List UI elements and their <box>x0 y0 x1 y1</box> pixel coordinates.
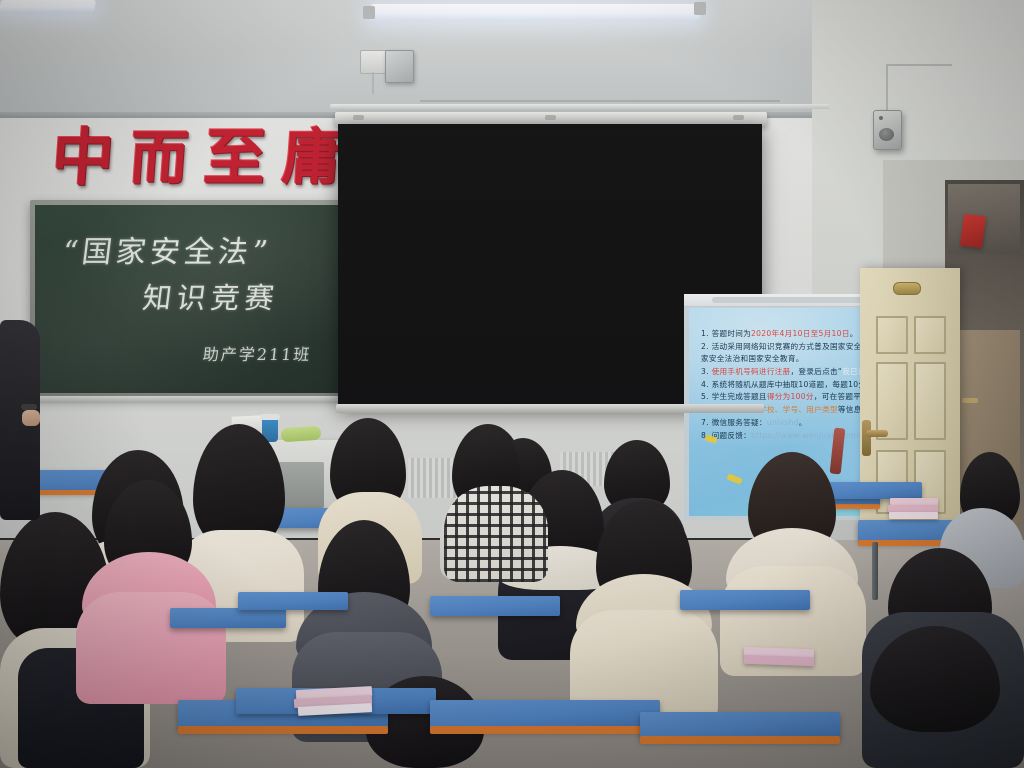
green-cloth <box>281 426 322 443</box>
blackboard-line-2: 知识竞赛 <box>140 275 281 317</box>
door-lock-icon[interactable] <box>862 420 871 456</box>
motto-glyph-3: 至 <box>202 127 268 189</box>
slide-bullet-text: 得分为100分 <box>767 392 814 401</box>
desk <box>430 596 560 616</box>
motto-glyph-4: 庸 <box>280 128 344 188</box>
wristwatch-icon <box>21 404 37 410</box>
slide-bullet-number: 4. <box>701 380 712 389</box>
desk <box>238 592 348 610</box>
chalk-tray <box>28 396 352 403</box>
book-stack <box>890 498 938 505</box>
slide-bullet-number: 7. <box>701 418 712 427</box>
projection-screen: 答题须知 1. 答题时间为2020年4月10日至5月10日。2. 活动采用网络知… <box>338 124 762 407</box>
ceiling-light-icon <box>0 0 96 13</box>
door-handle-icon[interactable] <box>866 430 888 437</box>
desk <box>680 590 810 610</box>
door-nameplate <box>893 282 921 295</box>
slide-bullet-text: 答题时间为 <box>712 329 751 338</box>
screen-weight-bar <box>336 404 764 413</box>
screen-bracket-icon <box>733 115 744 120</box>
desk-leg <box>872 542 878 600</box>
slide-bullet-text: 2020年4月10日至5月10日 <box>751 329 850 338</box>
slide-bullet-number: 2. <box>701 342 712 351</box>
sensor-cable <box>372 72 374 94</box>
slide-bullet-text: 。 <box>799 418 807 427</box>
red-notice-paper <box>960 214 986 249</box>
desk-edge <box>640 736 840 744</box>
slide-bullet-text: univshd <box>767 418 799 427</box>
door-panel <box>914 362 946 440</box>
classroom-photo: 中 而 至 庸 “国家安全法” 知识竞赛 助产学211班 答题须知 1. 答题时… <box>0 0 1024 768</box>
door-panel <box>914 316 946 354</box>
slide-bullet-number: 3. <box>701 367 712 376</box>
speaker-cable <box>886 66 888 112</box>
speaker-led-icon <box>879 116 883 120</box>
motto-glyph-2: 而 <box>128 129 190 187</box>
blackboard-line-1: “国家安全法” <box>60 227 274 271</box>
slide-bullet-number: 1. <box>701 329 712 338</box>
slide-bullet-text: 使用手机号码进行注册 <box>712 367 791 376</box>
door-panel <box>876 316 908 354</box>
slide-bullet-text: 学生完成答题且 <box>712 392 767 401</box>
book-stack <box>888 505 938 512</box>
blackboard: “国家安全法” 知识竞赛 助产学211班 <box>35 205 343 393</box>
desk-edge <box>178 726 388 734</box>
motto-glyph-1: 中 <box>50 127 116 189</box>
desk-edge <box>430 726 660 734</box>
cup-lid-icon <box>260 414 280 420</box>
blackboard-line-3: 助产学211班 <box>202 341 313 365</box>
wall-plate-icon <box>360 50 388 74</box>
wall-motto: 中 而 至 庸 <box>52 122 342 194</box>
corridor-door-handle-icon[interactable] <box>962 398 978 403</box>
screen-bracket-icon <box>545 115 556 120</box>
ceiling-light-icon <box>369 4 701 21</box>
wall-wire <box>420 100 780 102</box>
motion-sensor-icon <box>385 50 414 83</box>
speaker-cone-icon <box>879 128 894 141</box>
desk <box>170 608 286 628</box>
hand <box>22 410 40 426</box>
screen-bracket-icon <box>353 115 364 120</box>
light-end-cap <box>363 6 375 19</box>
slide-bullet-text: ，登录后点击“ <box>791 367 843 376</box>
slide-bullet-number: 5. <box>701 392 712 401</box>
light-end-cap <box>694 2 706 15</box>
book-stack <box>889 512 938 519</box>
wall-conduit <box>330 104 830 109</box>
slide-bullet-text: 微信服务答疑： <box>712 418 767 427</box>
speaker-cable <box>886 64 952 66</box>
door-panel <box>876 362 908 440</box>
slide-bullet-text: 。 <box>850 329 858 338</box>
slide-bullet-text: 问题反馈： <box>712 431 751 440</box>
